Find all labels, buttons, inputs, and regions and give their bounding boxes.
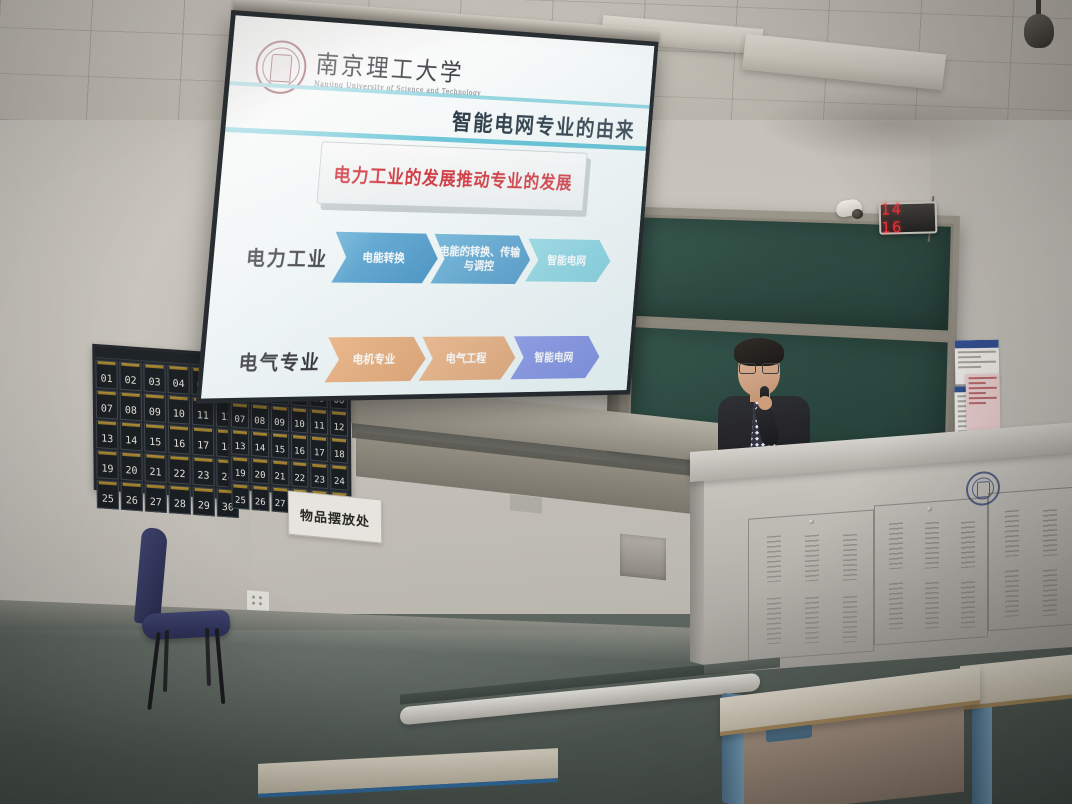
slide-subtitle-box: 电力工业的发展推动专业的发展	[316, 141, 587, 211]
pocket-cell: 08	[251, 404, 269, 430]
placement-area-sign: 物品摆放处	[288, 490, 382, 543]
presentation-slide: 南京理工大学 Nanjing University of Science and…	[201, 15, 654, 398]
pocket-cell: 19	[231, 456, 249, 482]
student-desk	[258, 756, 558, 804]
pocket-cell: 15	[144, 423, 166, 453]
pocket-cell: 18	[330, 437, 348, 463]
pocket-cell: 17	[192, 427, 214, 457]
flow-step: 智能电网	[510, 336, 601, 379]
pocket-cell: 02	[119, 362, 141, 392]
speaker-cone	[1024, 14, 1054, 48]
pocket-cell: 12	[330, 410, 348, 436]
chair-leg	[215, 628, 226, 704]
pocket-cell: 01	[95, 360, 117, 390]
pocket-cell: 27	[145, 483, 167, 513]
chair-leg	[163, 630, 169, 692]
camera-lens	[852, 209, 863, 219]
security-camera-icon	[836, 200, 866, 222]
student-desk	[720, 682, 980, 804]
ceiling-speaker-icon	[1022, 0, 1056, 48]
notice-lines	[965, 374, 1000, 411]
pocket-cell: 09	[144, 393, 166, 423]
pocket-cell: 10	[290, 407, 308, 433]
pocket-cell: 21	[144, 453, 166, 483]
pocket-cell: 23	[192, 457, 214, 487]
sign-text: 物品摆放处	[300, 504, 370, 530]
wall-notice-red	[965, 374, 1000, 433]
lectern-podium	[690, 452, 1072, 690]
pocket-cell: 08	[120, 392, 142, 422]
pocket-cell: 20	[120, 452, 142, 482]
pocket-cell: 22	[168, 455, 190, 485]
pocket-cell: 10	[168, 395, 190, 425]
pocket-cell: 13	[231, 429, 249, 455]
pocket-cell: 25	[231, 483, 249, 509]
pocket-cell: 24	[330, 464, 348, 490]
pocket-cell: 26	[121, 482, 143, 512]
podium-door	[874, 497, 988, 645]
pocket-cell: 14	[251, 431, 269, 457]
glasses-icon	[739, 363, 779, 372]
presenter-hand	[758, 396, 772, 410]
pocket-cell: 23	[311, 463, 329, 489]
wall-vent	[620, 534, 666, 581]
flow-label: 电气专业	[238, 346, 323, 376]
pocket-cell: 21	[271, 460, 289, 486]
flow-row-major: 电气专业 电机专业 电气工程 智能电网	[237, 336, 601, 384]
notice-lines	[955, 348, 999, 375]
pocket-cell: 09	[271, 405, 289, 431]
light-glow	[760, 88, 1020, 160]
presenter-hair	[734, 338, 784, 366]
pocket-cell: 20	[251, 458, 269, 484]
flow-step: 电能的转换、传输与调控	[430, 234, 532, 284]
projection-screen: 南京理工大学 Nanjing University of Science and…	[196, 2, 659, 404]
pocket-cell: 11	[310, 409, 328, 435]
wall-plate	[510, 494, 542, 513]
pocket-cell: 04	[167, 365, 189, 395]
flow-step: 电气工程	[419, 336, 518, 381]
clock-time: 14 16	[881, 199, 936, 236]
pocket-cell: 29	[193, 487, 215, 517]
chair-backrest	[134, 527, 168, 625]
pocket-cell: 13	[96, 420, 118, 450]
classroom-photo: 14 16 0102030405060708091011121314151617…	[0, 0, 1072, 804]
flow-row-industry: 电力工业 电能转换 电能的转换、传输与调控 智能电网	[244, 230, 612, 285]
pocket-cell: 25	[97, 480, 119, 510]
pocket-cell: 15	[271, 432, 289, 458]
podium-door	[988, 486, 1072, 631]
pocket-cell: 19	[96, 450, 118, 480]
pocket-cell: 22	[291, 461, 309, 487]
podium-front	[704, 443, 1072, 674]
slide-subtitle: 电力工业的发展推动专业的发展	[332, 160, 573, 194]
pocket-cell: 14	[120, 422, 142, 452]
desk-top	[258, 748, 558, 798]
flow-label: 电力工业	[245, 241, 329, 271]
pocket-cell: 17	[310, 436, 328, 462]
flow-step: 智能电网	[525, 239, 612, 282]
pocket-cell: 03	[143, 363, 165, 393]
flow-step: 电机专业	[324, 337, 427, 383]
pocket-cell: 28	[169, 485, 191, 515]
podium-door	[748, 510, 874, 661]
pocket-cell: 26	[251, 485, 269, 511]
classroom-chair	[130, 528, 238, 698]
pocket-cell: 16	[168, 425, 190, 455]
flow-step: 电能转换	[331, 232, 440, 284]
digital-clock: 14 16	[879, 201, 938, 235]
pocket-cell: 16	[291, 434, 309, 460]
pocket-cell: 07	[231, 402, 249, 428]
pocket-cell: 07	[96, 390, 118, 420]
screen-frame: 南京理工大学 Nanjing University of Science and…	[196, 10, 659, 404]
pocket-cell: 27	[271, 487, 289, 513]
